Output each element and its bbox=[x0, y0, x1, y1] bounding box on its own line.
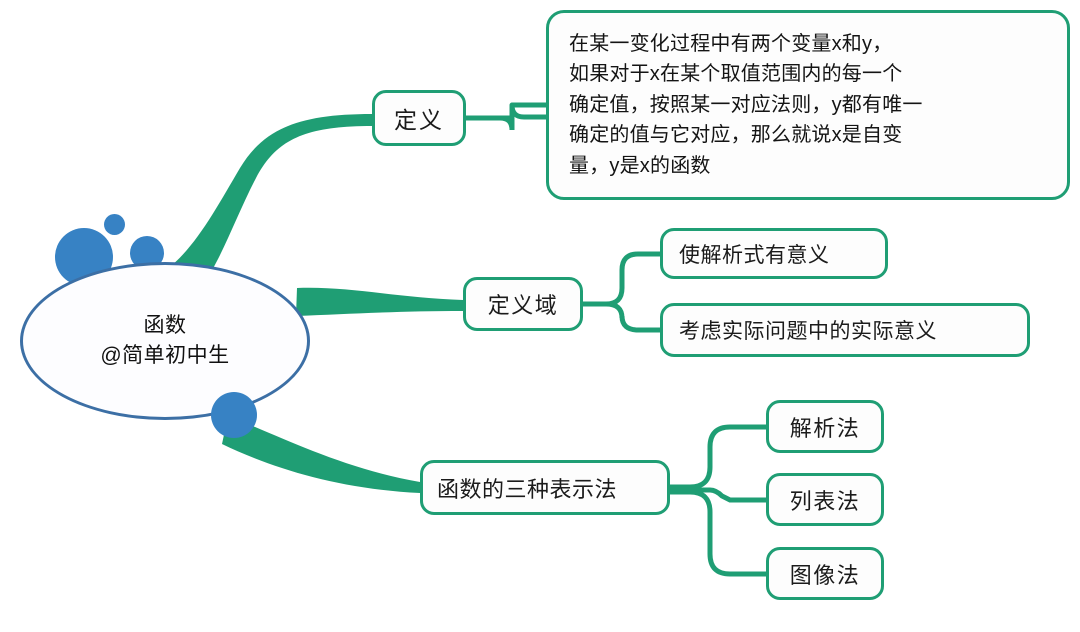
leaf-node-analytic-method[interactable]: 解析法 bbox=[766, 400, 884, 453]
decorative-bubble-small bbox=[104, 214, 125, 235]
leaf-node-domain-meaningful-expression[interactable]: 使解析式有意义 bbox=[660, 228, 888, 279]
branch-node-domain[interactable]: 定义域 bbox=[463, 277, 583, 331]
trunk-to-domain bbox=[296, 288, 463, 316]
leaf-node-graph-method[interactable]: 图像法 bbox=[766, 547, 884, 600]
edge-domain-to-child1 bbox=[583, 254, 660, 304]
edge-rep-to-child3 bbox=[670, 492, 766, 574]
leaf-node-domain-practical-meaning[interactable]: 考虑实际问题中的实际意义 bbox=[660, 303, 1030, 357]
leaf-node-definition-text[interactable]: 在某一变化过程中有两个变量x和y， 如果对于x在某个取值范围内的每一个 确定值，… bbox=[546, 10, 1070, 200]
decorative-bubble-bottom bbox=[211, 392, 257, 438]
leaf-node-table-method[interactable]: 列表法 bbox=[766, 473, 884, 526]
edge-rep-to-child1 bbox=[670, 427, 766, 487]
mindmap-canvas: 函数 @简单初中生 定义 在某一变化过程中有两个变量x和y， 如果对于x在某个取… bbox=[0, 0, 1080, 632]
root-node-function[interactable] bbox=[20, 262, 310, 420]
edge-domain-to-child2 bbox=[583, 304, 660, 330]
branch-node-representations[interactable]: 函数的三种表示法 bbox=[420, 460, 670, 515]
branch-node-definition[interactable]: 定义 bbox=[372, 90, 466, 146]
